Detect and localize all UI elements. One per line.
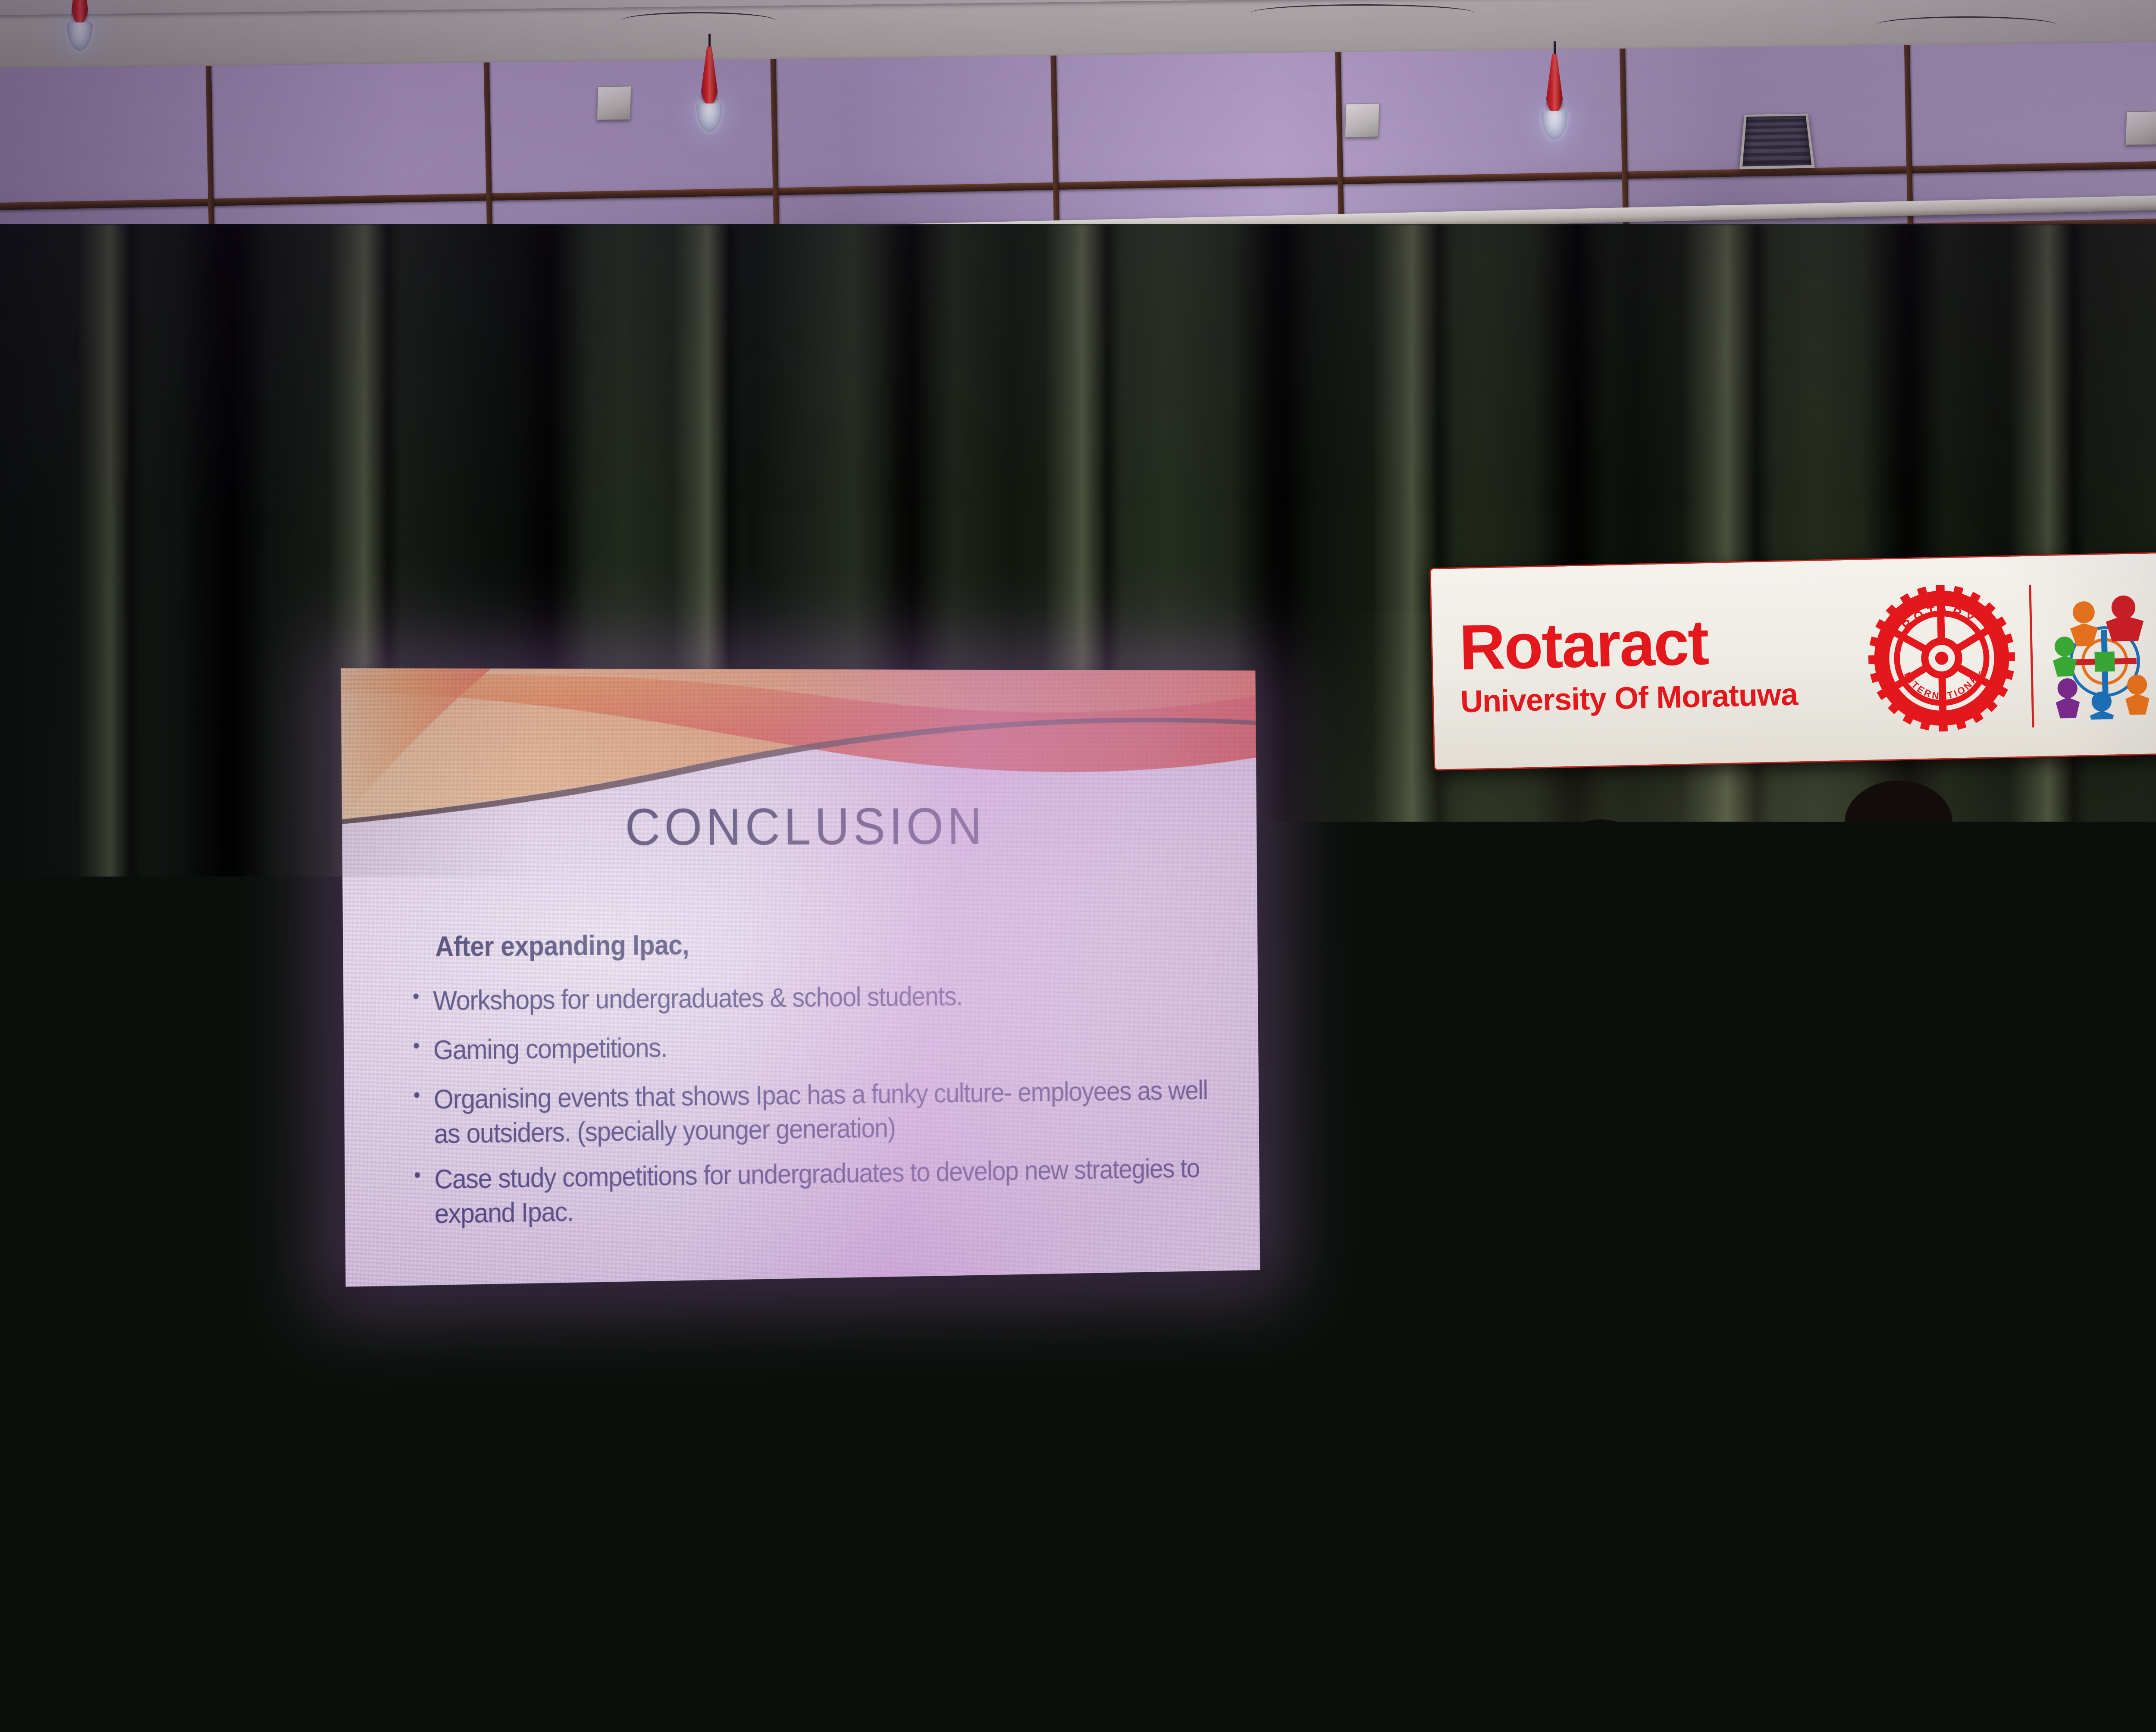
audience-head-silhouette bbox=[0, 1659, 82, 1732]
banner-org-subtitle: University Of Moratuwa bbox=[1460, 675, 1870, 720]
rotary-wheel-icon: ROTARY INTERNATIONAL bbox=[1867, 583, 2016, 733]
slide-body: After expanding Ipac, Workshops for unde… bbox=[409, 926, 1221, 1243]
mora-people-circle-icon bbox=[2047, 589, 2156, 721]
rotaract-banner: Rotaract University Of Moratuwa bbox=[1429, 545, 2156, 771]
glasses-icon bbox=[1601, 873, 1631, 888]
microphone-head-icon bbox=[1571, 944, 1595, 968]
glasses-bridge bbox=[2122, 899, 2129, 901]
pendant-lamp-icon bbox=[67, 0, 93, 51]
stage-presentation-photo: Rotaract University Of Moratuwa bbox=[0, 0, 2156, 1732]
slide-title: CONCLUSION bbox=[342, 796, 1257, 858]
slide-lead-text: After expanding Ipac, bbox=[435, 926, 1219, 963]
audience-head-silhouette bbox=[1777, 1702, 1880, 1732]
presenter-1-waist bbox=[1536, 1139, 1683, 1269]
ac-vent-icon bbox=[1739, 114, 1815, 169]
slide-bullet: Case study competitions for undergraduat… bbox=[411, 1152, 1221, 1231]
audience-head-silhouette bbox=[129, 1693, 241, 1732]
slide-bullet: Workshops for undergraduates & school st… bbox=[410, 978, 1219, 1018]
presenter-2-right-arm bbox=[1944, 923, 1998, 1078]
banner-org-name: Rotaract bbox=[1459, 609, 1869, 678]
presenter-3-hair-front bbox=[2078, 844, 2156, 881]
presenter-1-right-arm bbox=[1643, 949, 1695, 1091]
audience-head-silhouette bbox=[647, 1697, 768, 1732]
stage-floor bbox=[0, 1436, 2156, 1660]
glasses-icon bbox=[2129, 892, 2156, 908]
audience-head-silhouette bbox=[1005, 1657, 1108, 1732]
slide-bullet: Organising events that shows Ipac has a … bbox=[411, 1074, 1220, 1151]
slide-bullet-list: Workshops for undergraduates & school st… bbox=[410, 978, 1221, 1225]
slide-bullet: Gaming competitions. bbox=[410, 1026, 1220, 1067]
projection-screen: CONCLUSION After expanding Ipac, Worksho… bbox=[341, 668, 1260, 1286]
ceiling-wire bbox=[1250, 4, 1475, 22]
pendant-lamp-icon bbox=[1542, 41, 1567, 140]
banner-divider bbox=[2029, 585, 2034, 728]
glasses-bridge bbox=[1595, 879, 1601, 881]
audience-head-silhouette bbox=[302, 1702, 405, 1732]
audience-head-silhouette bbox=[1561, 1650, 1695, 1732]
box-light-icon bbox=[2125, 111, 2156, 145]
audience-head-silhouette bbox=[828, 1706, 936, 1732]
presenter-3-shirt-placket bbox=[2130, 966, 2132, 1147]
ceiling-wire bbox=[621, 12, 776, 29]
box-light-icon bbox=[1345, 103, 1380, 137]
glasses-icon bbox=[1565, 873, 1595, 888]
banner-org-block: Rotaract University Of Moratuwa bbox=[1432, 609, 1870, 721]
rotaract-mora-logo: RotaractMORA “Discovering new horizons” bbox=[2047, 581, 2156, 721]
audience-foreground-skirt bbox=[0, 1647, 2156, 1732]
presenter-2-hips bbox=[1824, 1121, 1979, 1251]
pendant-lamp-icon bbox=[696, 34, 722, 132]
audience-head-silhouette bbox=[1190, 1697, 1307, 1732]
box-light-icon bbox=[597, 86, 632, 120]
presenter-2-left-arm bbox=[1806, 923, 1860, 1078]
microphone-head-icon bbox=[1872, 997, 1897, 1022]
ceiling-wire bbox=[1876, 16, 2057, 34]
glasses-icon bbox=[2092, 892, 2122, 908]
audience-head-silhouette bbox=[2027, 1708, 2134, 1732]
ceiling bbox=[0, 0, 2156, 242]
presenter-3-black-trousers-top bbox=[2059, 1134, 2156, 1277]
presenter-3-left-arm bbox=[2053, 979, 2102, 1152]
audience-head-silhouette bbox=[466, 1663, 573, 1732]
